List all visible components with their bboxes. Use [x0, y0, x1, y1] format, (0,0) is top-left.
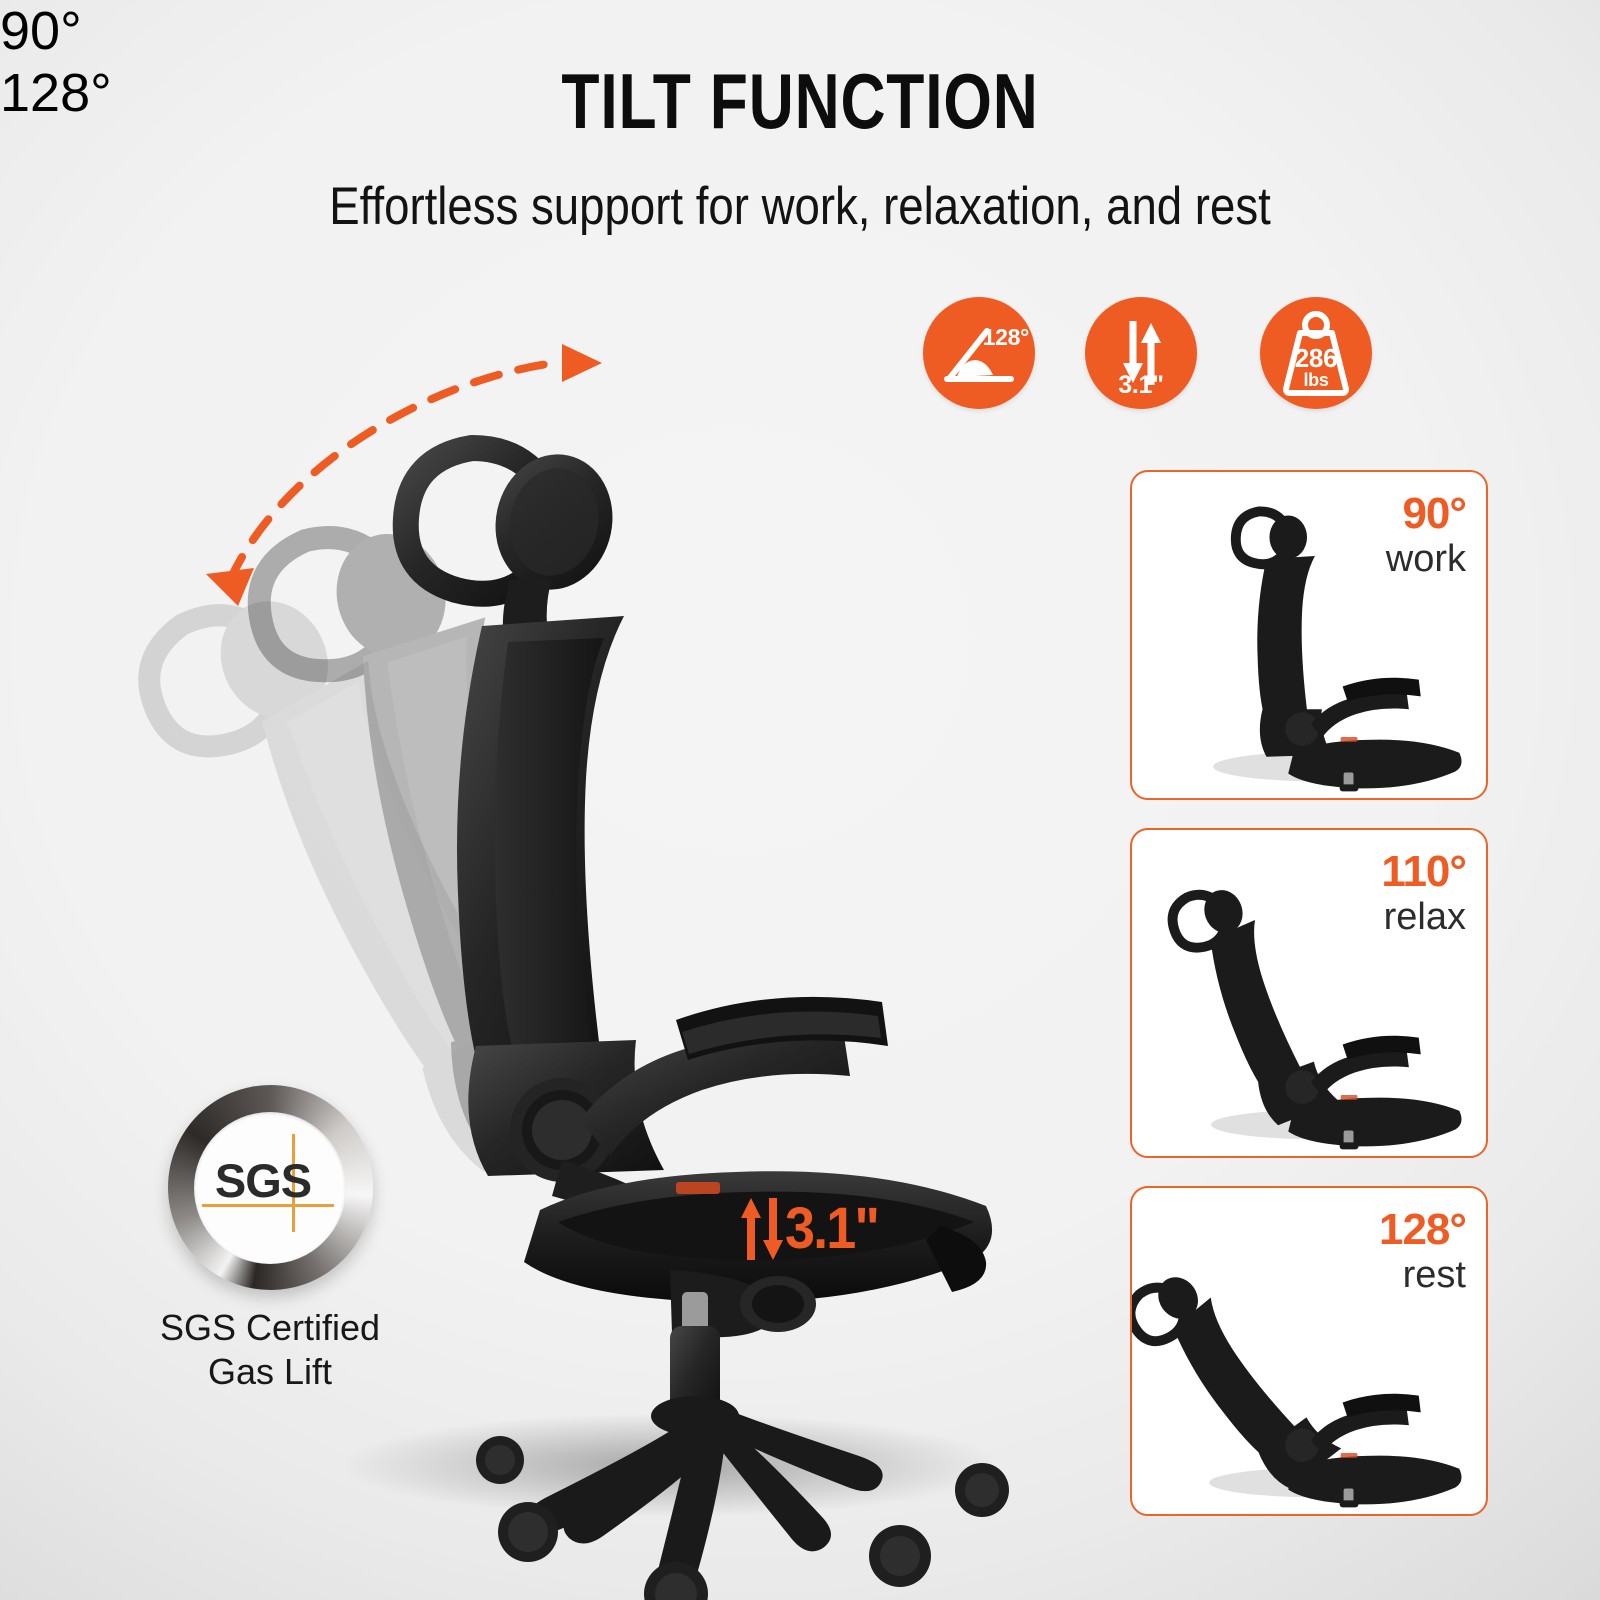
sgs-caption-line1: SGS Certified: [110, 1306, 430, 1350]
card-chair-image: [1132, 492, 1486, 794]
page-title: TILT FUNCTION: [160, 62, 1440, 140]
sgs-badge-icon: SGS: [168, 1085, 373, 1290]
sgs-caption: SGS Certified Gas Lift: [110, 1306, 430, 1394]
badge-weight-capacity: 286 lbs: [1260, 297, 1372, 409]
height-adjust-label: 3.1": [785, 1195, 878, 1262]
card-chair-image: [1132, 1208, 1486, 1510]
chair-side-view-90: [1132, 492, 1486, 794]
chair-side-view-110: [1132, 850, 1486, 1152]
page-subtitle: Effortless support for work, relaxation,…: [112, 178, 1488, 235]
sgs-logo-text: SGS: [215, 1153, 311, 1208]
badge-weight-unit: lbs: [1260, 370, 1372, 391]
up-down-arrow-icon: [739, 1196, 785, 1262]
position-card-work[interactable]: 90° work: [1130, 470, 1488, 800]
angle-label-90: 90°: [0, 0, 1600, 62]
position-card-relax[interactable]: 110° relax: [1130, 828, 1488, 1158]
sgs-caption-line2: Gas Lift: [110, 1350, 430, 1394]
position-card-list: 90° work: [1130, 470, 1488, 1544]
position-card-rest[interactable]: 128° rest: [1130, 1186, 1488, 1516]
chair-side-view-128: [1132, 1208, 1486, 1510]
sgs-certification: SGS SGS Certified Gas Lift: [110, 1085, 430, 1394]
infographic-canvas: TILT FUNCTION Effortless support for wor…: [0, 0, 1600, 1600]
card-chair-image: [1132, 850, 1486, 1152]
